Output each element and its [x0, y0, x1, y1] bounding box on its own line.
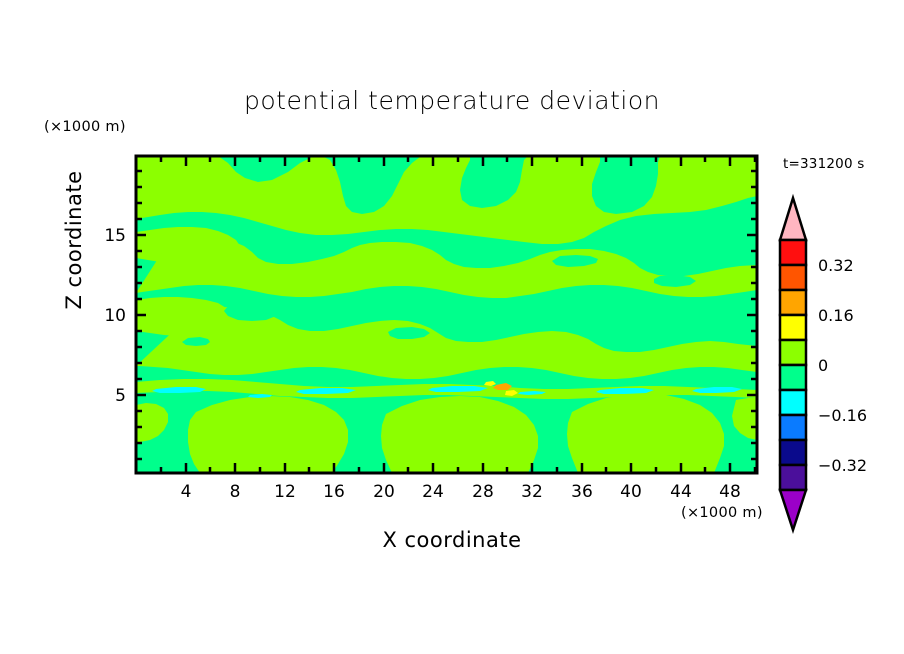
colorbar-label: −0.16 [818, 406, 867, 425]
x-tick-label: 48 [719, 482, 741, 502]
x-tick-label: 40 [620, 482, 642, 502]
colorbar-label: 0 [818, 356, 828, 375]
colorbar: 0.32 0.16 0 −0.16 −0.32 [780, 198, 867, 530]
colorbar-segment [780, 440, 806, 465]
x-tick-label: 8 [230, 482, 241, 502]
colorbar-segment [780, 315, 806, 340]
x-tick-label: 24 [422, 482, 444, 502]
y-tick-labels: 5 10 15 [104, 226, 126, 406]
colorbar-label: 0.16 [818, 306, 854, 325]
figure-canvas: potential temperature deviation (×1000 m… [0, 0, 904, 654]
x-tick-label: 12 [274, 482, 296, 502]
y-tick-label: 10 [104, 306, 126, 326]
colorbar-segment [780, 390, 806, 415]
x-tick-label: 16 [323, 482, 345, 502]
x-tick-label: 28 [472, 482, 494, 502]
x-tick-label: 20 [373, 482, 395, 502]
contour-plot: 4 8 12 16 20 24 28 32 36 40 44 48 5 10 1… [0, 0, 904, 654]
colorbar-segment [780, 365, 806, 390]
x-tick-label: 32 [521, 482, 543, 502]
x-tick-labels: 4 8 12 16 20 24 28 32 36 40 44 48 [181, 482, 741, 502]
colorbar-cap-bottom [780, 490, 806, 530]
colorbar-segment [780, 465, 806, 490]
y-tick-label: 5 [115, 386, 126, 406]
contour-field [136, 156, 757, 473]
colorbar-segment [780, 415, 806, 440]
colorbar-segment [780, 290, 806, 315]
y-tick-label: 15 [104, 226, 126, 246]
x-tick-label: 44 [670, 482, 692, 502]
colorbar-segment [780, 240, 806, 265]
colorbar-segment [780, 265, 806, 290]
colorbar-label: −0.32 [818, 456, 867, 475]
colorbar-label: 0.32 [818, 256, 854, 275]
colorbar-segment [780, 340, 806, 365]
x-tick-label: 36 [571, 482, 593, 502]
x-tick-label: 4 [181, 482, 192, 502]
colorbar-cap-top [780, 198, 806, 240]
